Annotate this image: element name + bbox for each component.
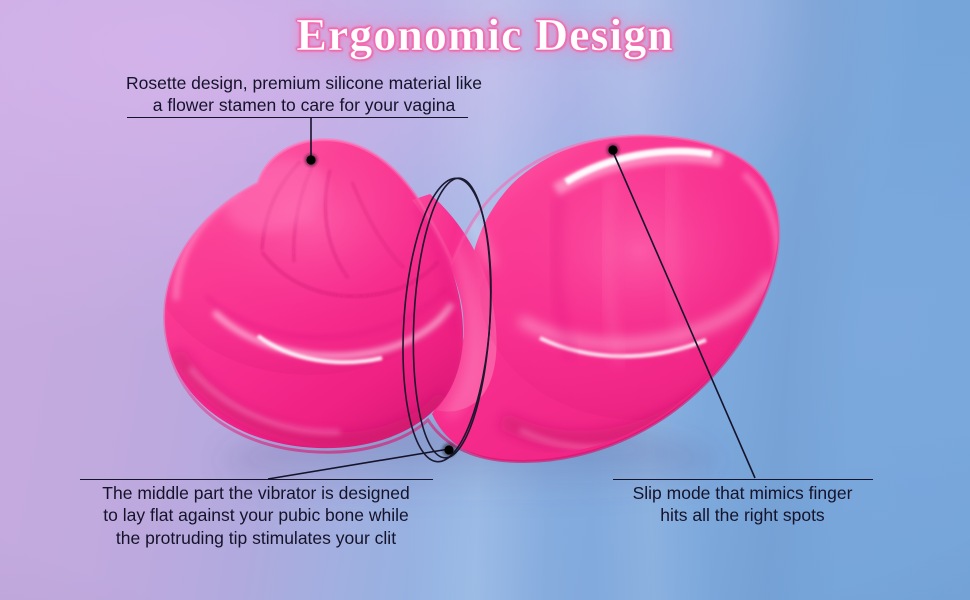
callout-text-rosette-design: Rosette design, premium silicone materia… (94, 72, 514, 117)
callout-rule-middle-part (80, 479, 433, 480)
infographic-canvas: Ergonomic Design Rosette design, premium… (0, 0, 970, 600)
callout-text-middle-part: The middle part the vibrator is designed… (76, 482, 436, 549)
page-title: Ergonomic Design (0, 8, 970, 61)
callout-text-slip-mode: Slip mode that mimics finger hits all th… (609, 482, 876, 527)
callout-rule-slip-mode (613, 479, 873, 480)
callout-rule-rosette-design (127, 117, 468, 118)
